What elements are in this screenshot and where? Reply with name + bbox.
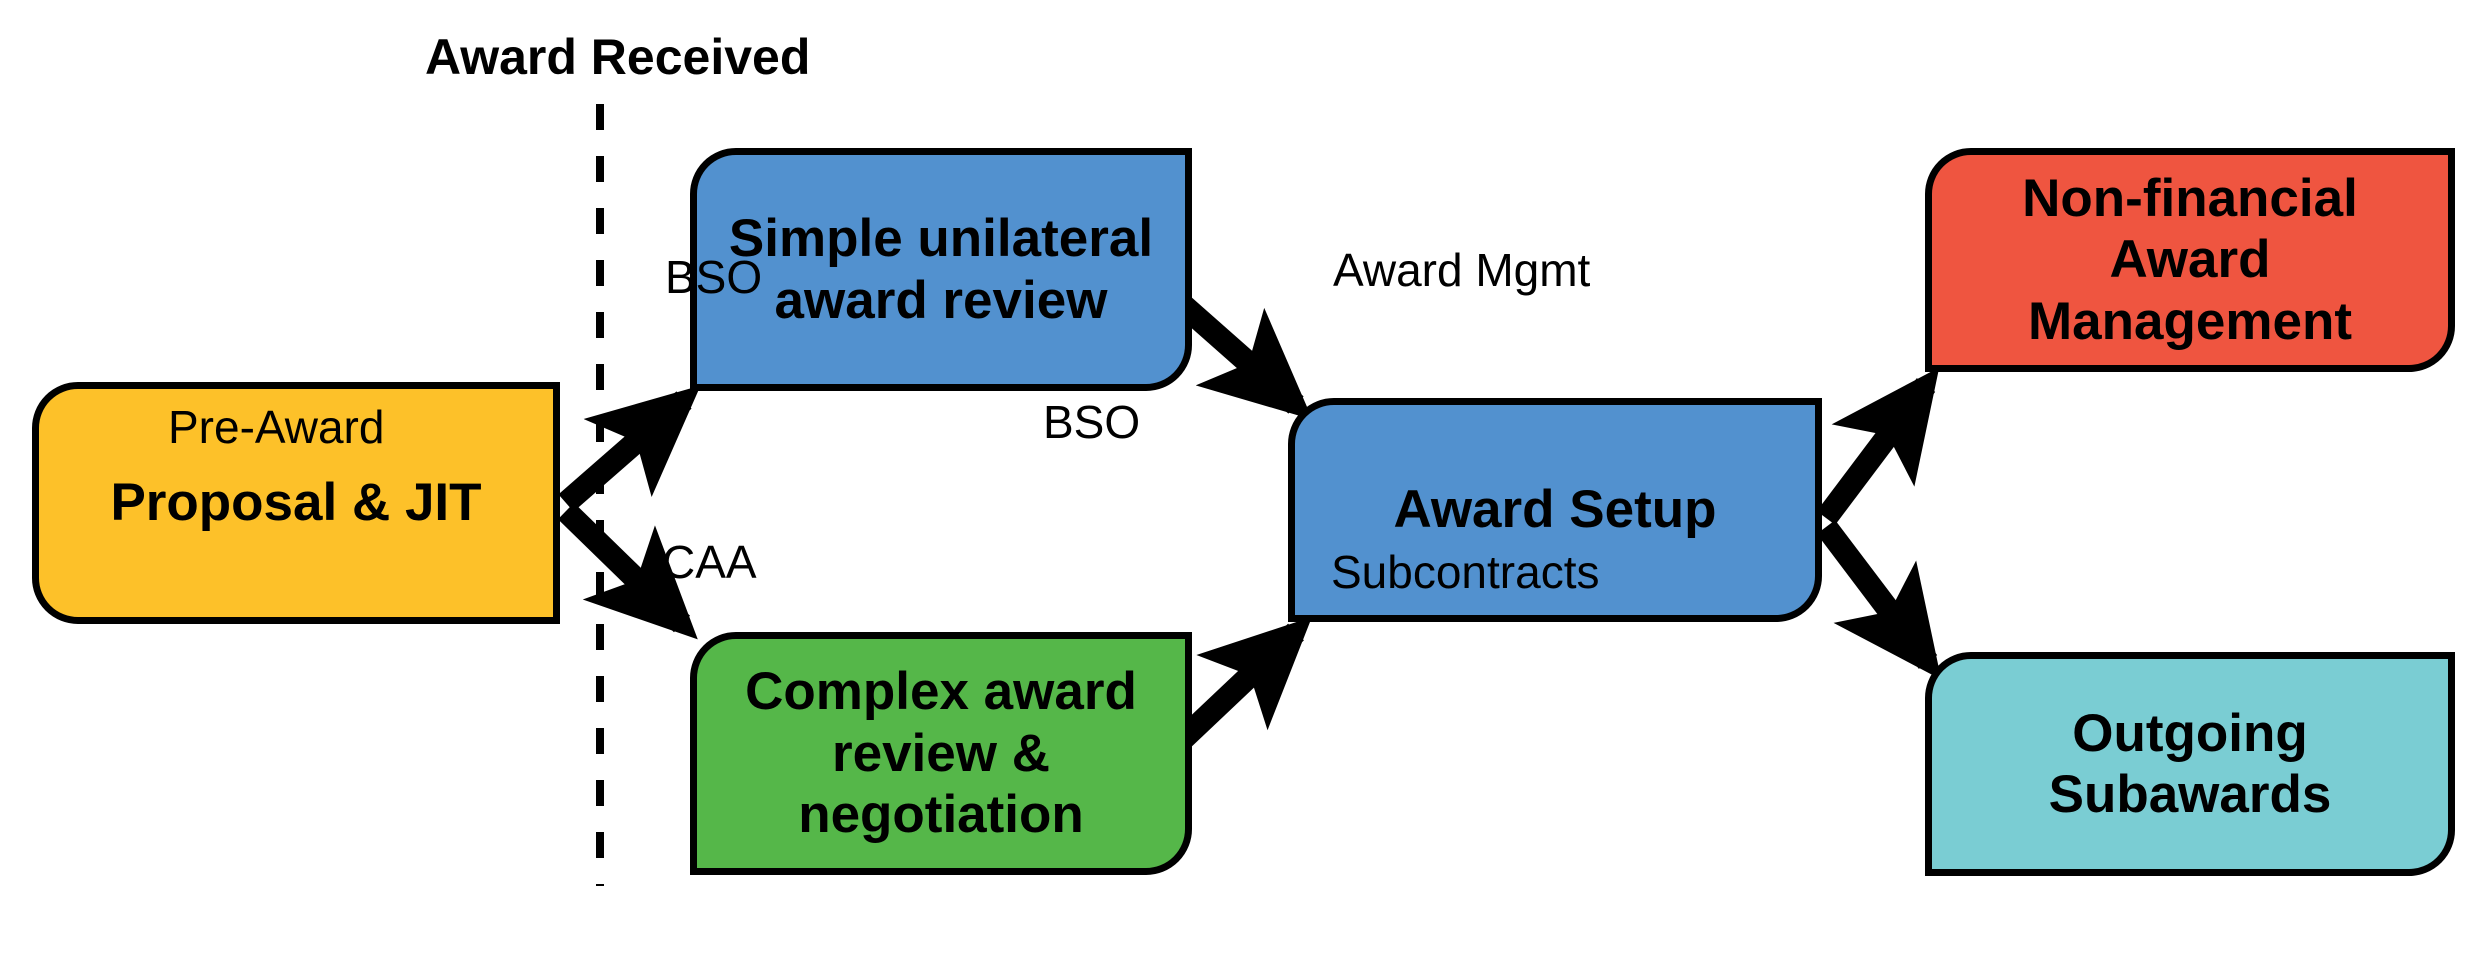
node-complex-review-sublabel: CAA [662, 535, 757, 589]
node-outgoing-subawards-sublabel: Subcontracts [1331, 545, 1599, 599]
node-outgoing-subawards[interactable]: Outgoing Subawards [1925, 652, 2455, 876]
node-simple-review-line-1: Simple unilateral [729, 209, 1153, 268]
diagram-canvas: Award Received Proposal & JIT Pre-Award … [0, 0, 2481, 979]
node-non-financial-line-2: Award [2109, 230, 2270, 289]
arrow-award-setup-to-outgoing-subawards [1826, 527, 1928, 662]
node-complex-review-line-1: Complex award [745, 662, 1137, 721]
node-proposal-label: Proposal & JIT [110, 472, 481, 533]
node-outgoing-subawards-label: Outgoing Subawards [2049, 703, 2332, 826]
node-simple-review-line-2: award review [775, 271, 1108, 330]
node-complex-review-line-3: negotiation [798, 785, 1084, 844]
node-simple-review-label: Simple unilateral award review [729, 208, 1153, 331]
node-award-setup-sublabel: BSO [1043, 395, 1140, 449]
node-outgoing-subawards-line-1: Outgoing [2072, 704, 2307, 763]
node-complex-review-line-2: review & [832, 724, 1050, 783]
node-award-setup-label: Award Setup [1394, 479, 1717, 540]
arrow-complex-review-to-award-setup [1184, 632, 1296, 738]
node-outgoing-subawards-line-2: Subawards [2049, 765, 2332, 824]
node-non-financial-line-3: Management [2028, 292, 2352, 351]
node-complex-award-review-and-negotiation[interactable]: Complex award review & negotiation [690, 632, 1192, 875]
node-non-financial-sublabel: Award Mgmt [1333, 243, 1590, 297]
arrow-simple-review-to-award-setup [1184, 306, 1296, 405]
node-non-financial-award-management[interactable]: Non-financial Award Management [1925, 148, 2455, 372]
node-non-financial-label: Non-financial Award Management [2022, 168, 2358, 352]
phase-divider-line [560, 100, 640, 890]
node-non-financial-line-1: Non-financial [2022, 169, 2358, 228]
node-proposal-sublabel: Pre-Award [168, 400, 384, 454]
phase-divider-label: Award Received [425, 28, 810, 86]
node-complex-review-label: Complex award review & negotiation [745, 661, 1137, 845]
arrow-award-setup-to-non-financial [1826, 385, 1926, 518]
node-simple-review-sublabel: BSO [665, 250, 762, 304]
node-simple-unilateral-award-review[interactable]: Simple unilateral award review [690, 148, 1192, 391]
